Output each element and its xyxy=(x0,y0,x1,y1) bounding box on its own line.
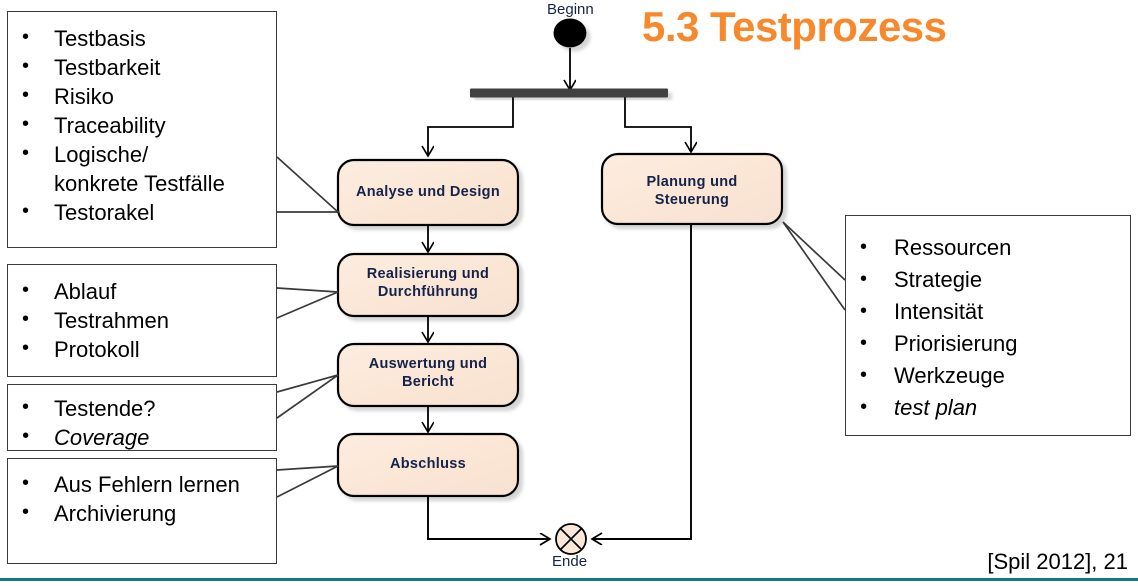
note-list: Aus Fehlern lernen Archivierung xyxy=(8,470,276,528)
list-item: Werkzeuge xyxy=(846,360,1130,392)
start-node-caption: Beginn xyxy=(547,1,594,18)
edge-abschluss-to-ende xyxy=(428,496,550,539)
callout-tail-auswertung xyxy=(277,375,338,418)
callout-tail-planung xyxy=(783,222,845,310)
list-item: test plan xyxy=(846,392,1130,424)
list-item: Priorisierung xyxy=(846,328,1130,360)
note-box-auswertung: Testende? Coverage xyxy=(7,384,277,451)
activity-analyse-und-design[interactable] xyxy=(338,160,518,225)
list-item: Risiko xyxy=(8,82,276,111)
list-item: Testbasis xyxy=(8,24,276,53)
list-item: Protokoll xyxy=(8,335,276,364)
note-list: Ressourcen Strategie Intensität Priorisi… xyxy=(846,232,1130,424)
list-item: Ablauf xyxy=(8,277,276,306)
list-item: Intensität xyxy=(846,296,1130,328)
callout-tail-abschluss xyxy=(277,466,338,497)
note-box-realisierung: Ablauf Testrahmen Protokoll xyxy=(7,264,277,377)
list-item: Testorakel xyxy=(8,198,276,227)
note-box-abschluss: Aus Fehlern lernen Archivierung xyxy=(7,458,277,564)
note-box-planung: Ressourcen Strategie Intensität Priorisi… xyxy=(845,215,1131,436)
list-item-continuation: konkrete Testfälle xyxy=(8,169,276,198)
end-node-caption: Ende xyxy=(552,553,587,570)
list-item: Aus Fehlern lernen xyxy=(8,470,276,499)
list-item: Testrahmen xyxy=(8,306,276,335)
activity-auswertung-und-bericht[interactable] xyxy=(338,344,518,406)
list-item: Testbarkeit xyxy=(8,53,276,82)
activity-realisierung-und-durchfuehrung[interactable] xyxy=(338,254,518,316)
list-item: Testende? xyxy=(8,394,276,423)
edge-fork-to-planung xyxy=(625,98,691,153)
fork-bar xyxy=(470,89,668,98)
edge-planung-to-ende xyxy=(592,224,691,539)
slide-canvas: 5.3 Testprozess xyxy=(0,0,1138,586)
list-item: Traceability xyxy=(8,111,276,140)
activity-planung-und-steuerung[interactable] xyxy=(602,154,782,224)
edge-fork-to-analyse xyxy=(428,98,513,157)
list-item: Logische/ xyxy=(8,140,276,169)
note-list: Testende? Coverage xyxy=(8,394,276,452)
list-item: Archivierung xyxy=(8,499,276,528)
callout-tail-analyse xyxy=(277,157,338,212)
list-item: Ressourcen xyxy=(846,232,1130,264)
end-node xyxy=(556,524,586,554)
callout-tail-realisierung xyxy=(277,288,338,318)
note-list: Ablauf Testrahmen Protokoll xyxy=(8,277,276,364)
footer-divider xyxy=(0,578,1138,581)
list-item: Strategie xyxy=(846,264,1130,296)
activity-abschluss[interactable] xyxy=(338,434,518,496)
list-item: Coverage xyxy=(8,423,276,452)
note-list: Testbasis Testbarkeit Risiko Traceabilit… xyxy=(8,24,276,227)
start-node xyxy=(554,19,587,48)
footer-citation: [Spil 2012], 21 xyxy=(987,549,1128,575)
note-box-analyse: Testbasis Testbarkeit Risiko Traceabilit… xyxy=(7,11,277,248)
